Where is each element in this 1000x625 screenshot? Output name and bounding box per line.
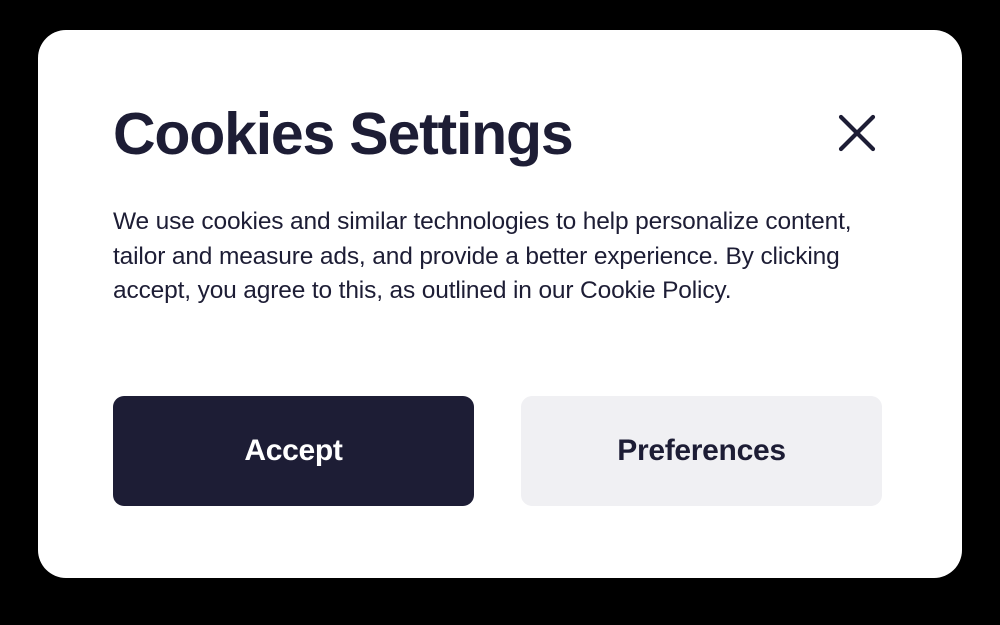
dialog-header: Cookies Settings [113, 105, 923, 197]
dialog-description: We use cookies and similar technologies … [113, 205, 897, 309]
dialog-actions: Accept Preferences [113, 396, 882, 506]
close-button[interactable] [831, 107, 883, 159]
preferences-button[interactable]: Preferences [521, 396, 882, 506]
page-title: Cookies Settings [113, 105, 572, 164]
dialog-body: We use cookies and similar technologies … [113, 205, 897, 309]
screen-backdrop: Cookies Settings We use cookies and simi… [0, 0, 1000, 625]
cookies-settings-dialog: Cookies Settings We use cookies and simi… [38, 30, 962, 578]
close-x-icon [837, 113, 877, 153]
accept-button[interactable]: Accept [113, 396, 474, 506]
